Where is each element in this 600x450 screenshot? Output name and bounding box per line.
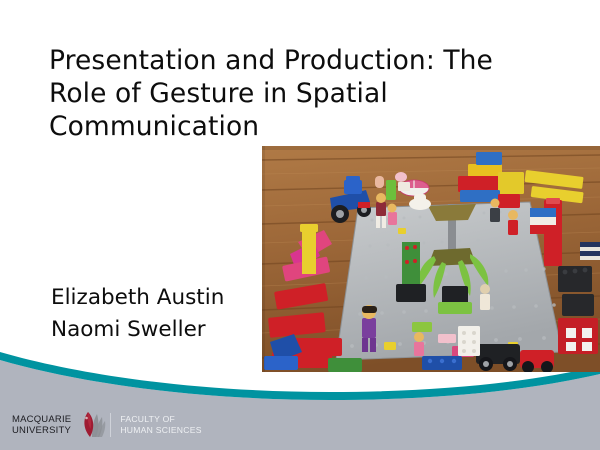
slide-title: Presentation and Production: The Role of…	[49, 44, 519, 143]
author-name: Elizabeth Austin	[51, 282, 224, 314]
faculty-name: FACULTY OF HUMAN SCIENCES	[120, 414, 201, 436]
photograph-content	[262, 146, 600, 372]
logo-divider	[110, 413, 111, 437]
lego-model-photograph	[262, 146, 600, 372]
author-list: Elizabeth Austin Naomi Sweller	[51, 282, 224, 346]
macquarie-lozenge-icon	[76, 410, 106, 440]
wordmark-line-university: UNIVERSITY	[12, 425, 71, 437]
author-name: Naomi Sweller	[51, 314, 224, 346]
faculty-line-2: HUMAN SCIENCES	[120, 425, 201, 436]
faculty-line-1: FACULTY OF	[120, 414, 201, 425]
presentation-slide: Presentation and Production: The Role of…	[0, 0, 600, 450]
macquarie-university-logo-lockup: MACQUARIE UNIVERSITY FACULTY OF HUMAN SC…	[12, 408, 202, 442]
macquarie-university-wordmark: MACQUARIE UNIVERSITY	[12, 414, 71, 437]
wordmark-line-macquarie: MACQUARIE	[12, 414, 71, 426]
